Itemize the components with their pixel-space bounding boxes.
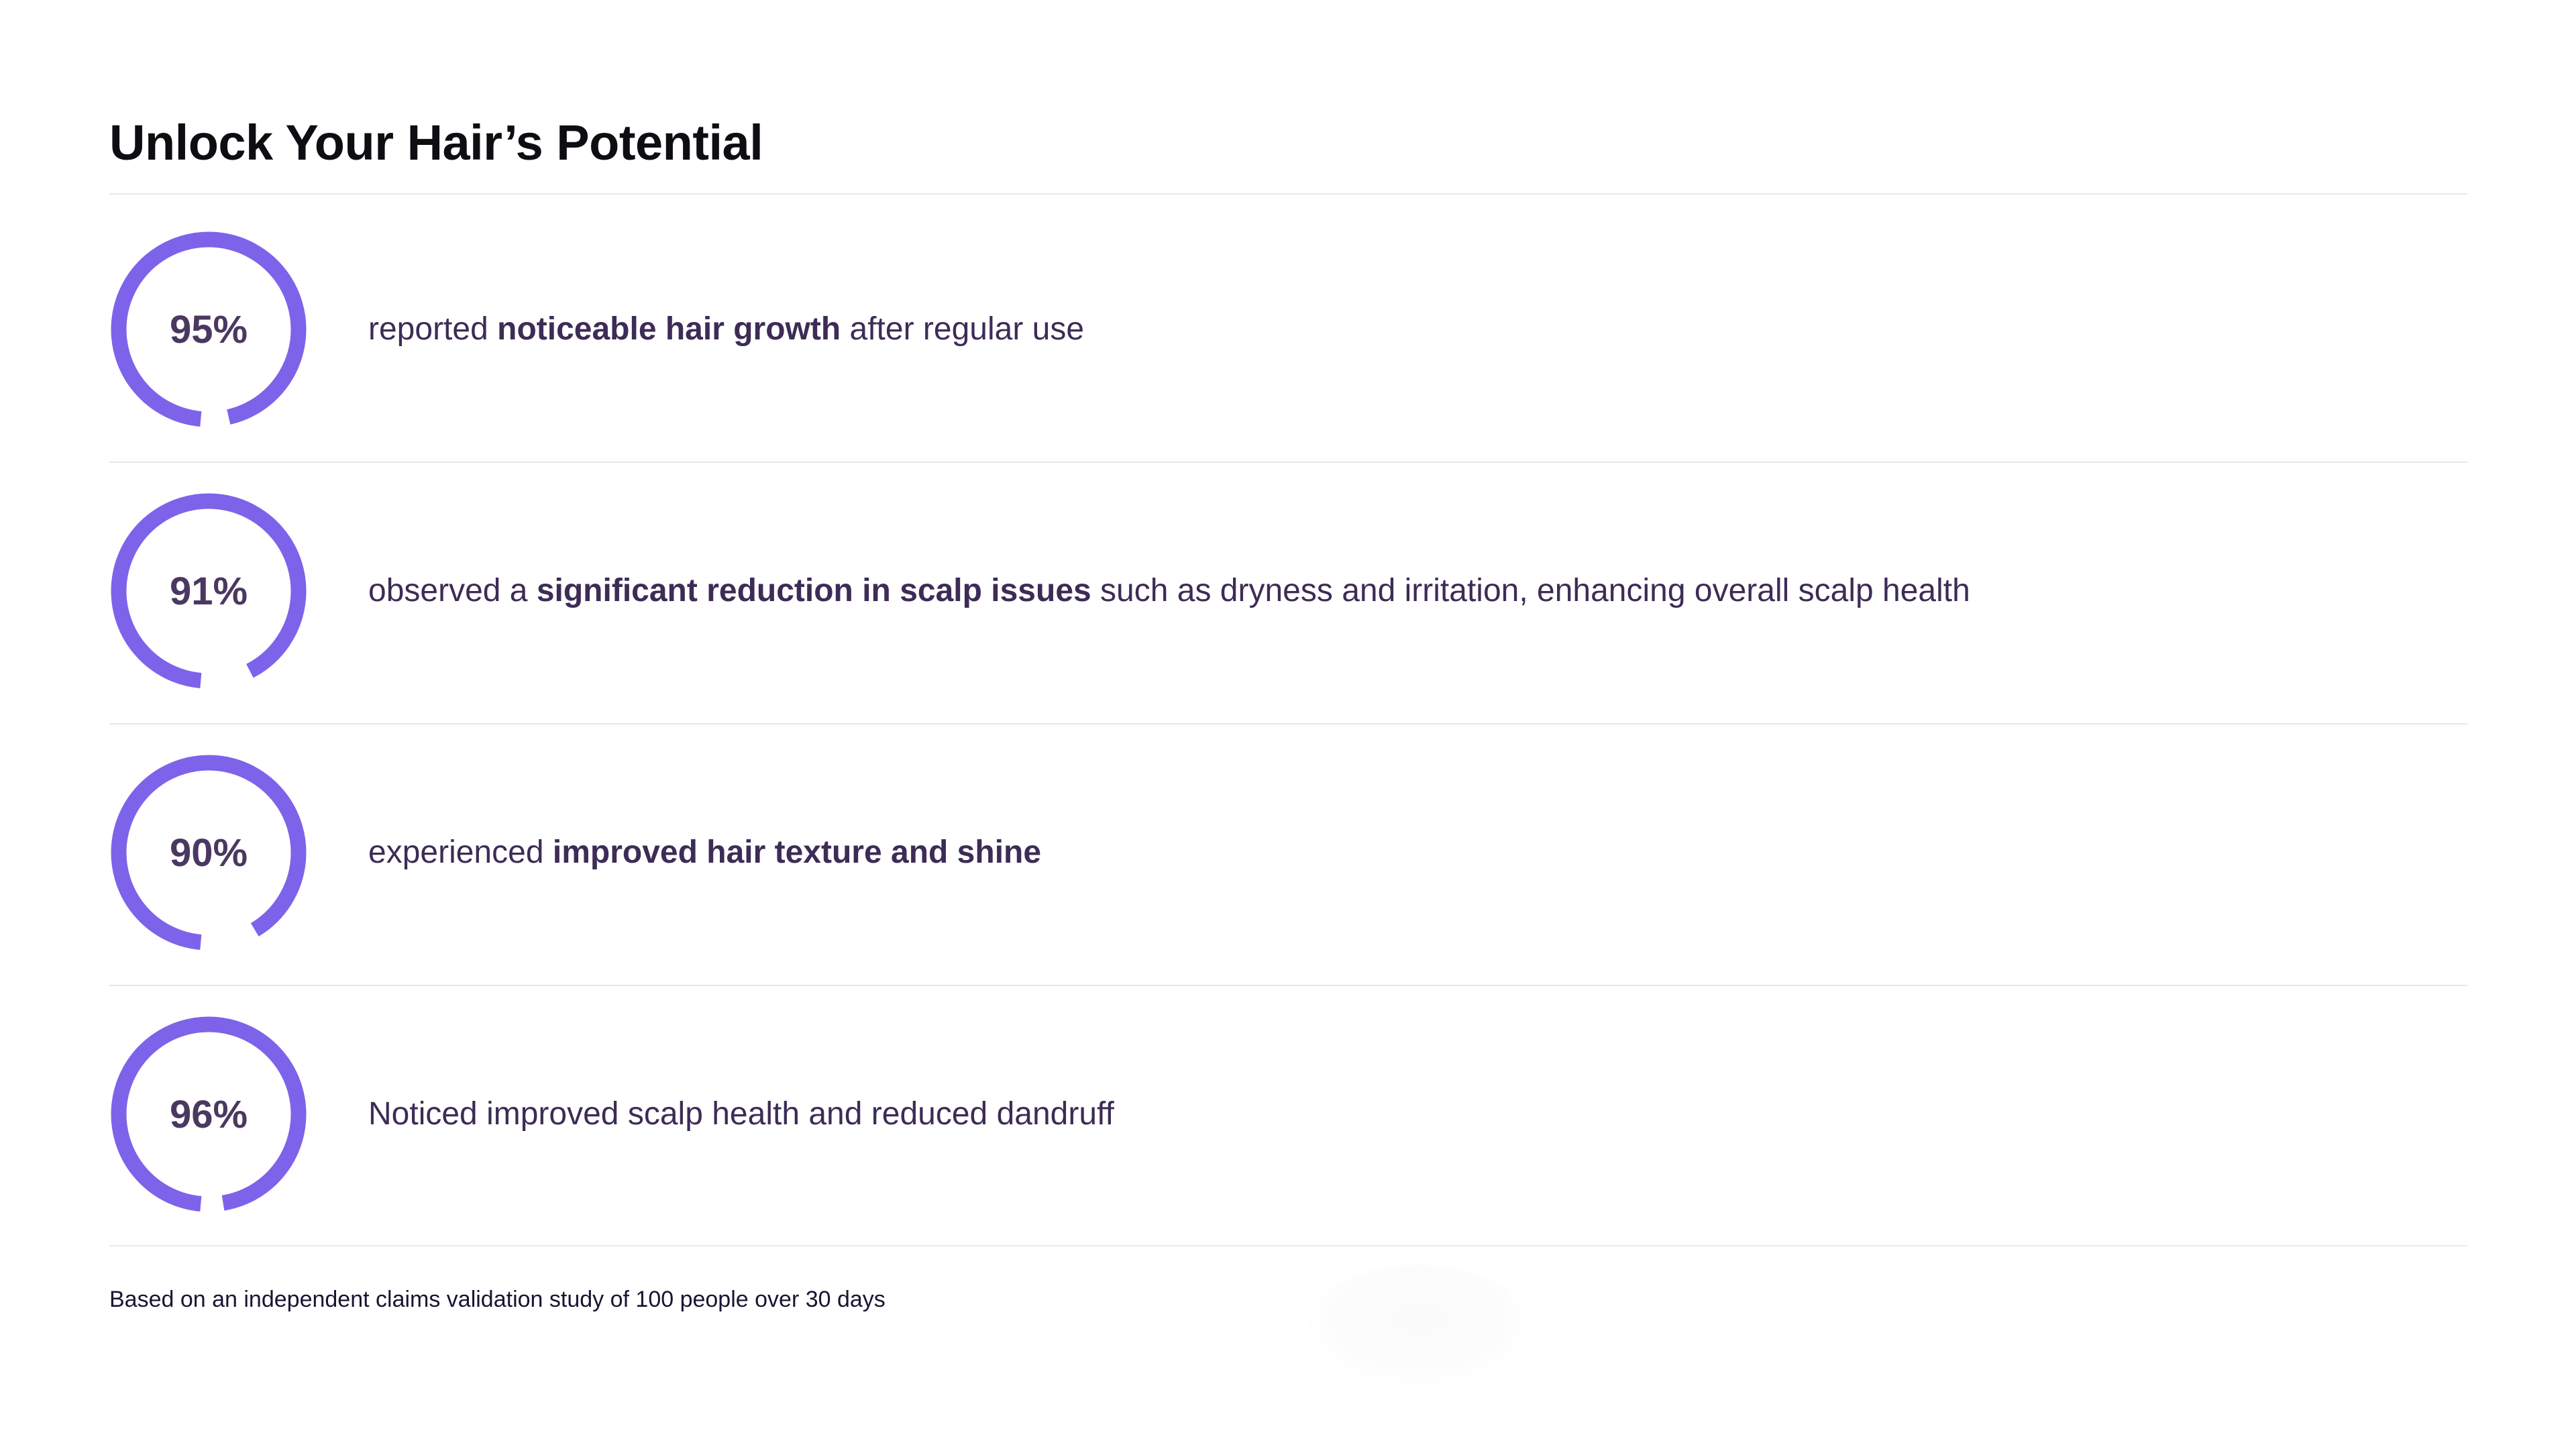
stat-description: Noticed improved scalp health and reduce… [368, 1093, 1114, 1134]
stat-description: observed a significant reduction in scal… [368, 570, 1970, 611]
stat-row: 95% reported noticeable hair growth afte… [109, 199, 2498, 460]
stat-text-emphasis: noticeable hair growth [497, 311, 841, 347]
stat-percent-value: 95% [111, 231, 307, 427]
stat-percent-value: 91% [111, 493, 307, 689]
stat-row: 90% experienced improved hair texture an… [109, 722, 2498, 983]
stat-text-after: after regular use [841, 311, 1084, 347]
stat-text-before: observed a [368, 573, 537, 608]
progress-ring-icon: 91% [111, 493, 307, 689]
divider-bottom [109, 1245, 2467, 1246]
stat-row: 96% Noticed improved scalp health and re… [109, 983, 2498, 1245]
stat-description: reported noticeable hair growth after re… [368, 309, 1084, 350]
progress-ring-icon: 90% [111, 755, 307, 951]
footnote: Based on an independent claims validatio… [109, 1285, 885, 1314]
infographic-page: Unlock Your Hair’s Potential 95% reporte… [0, 0, 2576, 1449]
progress-ring-icon: 95% [111, 231, 307, 427]
stat-percent-value: 96% [111, 1016, 307, 1212]
stat-text-before: experienced [368, 835, 553, 870]
stat-text-emphasis: significant reduction in scalp issues [537, 573, 1091, 608]
stat-description: experienced improved hair texture and sh… [368, 832, 1041, 873]
progress-ring-icon: 96% [111, 1016, 307, 1212]
stat-row: 91% observed a significant reduction in … [109, 460, 2498, 722]
stat-text-before: reported [368, 311, 497, 347]
stats-list: 95% reported noticeable hair growth afte… [0, 0, 2576, 1449]
stat-text-before: Noticed improved scalp health and reduce… [368, 1096, 1114, 1132]
stat-text-after: such as dryness and irritation, enhancin… [1091, 573, 1970, 608]
divider-row-3-4 [109, 985, 2467, 986]
stat-text-emphasis: improved hair texture and shine [553, 835, 1041, 870]
divider-row-1-2 [109, 462, 2467, 463]
divider-row-2-3 [109, 723, 2467, 724]
stat-percent-value: 90% [111, 755, 307, 951]
